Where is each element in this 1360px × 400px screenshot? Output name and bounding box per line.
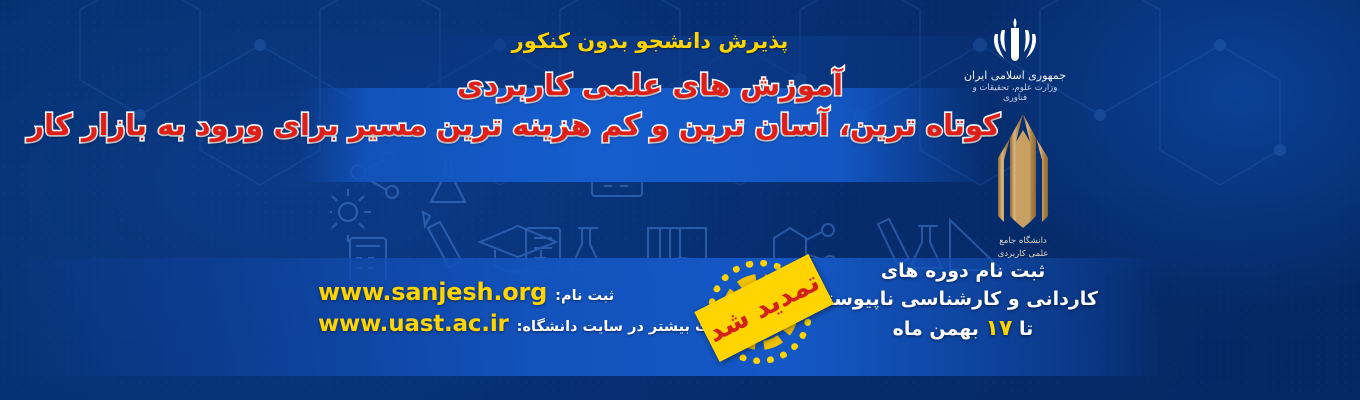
registration-block: ثبت نام دوره های کاردانی و کارشناسی ناپی… [828,258,1098,345]
site-row: اطلاعات بیشتر در سایت دانشگاه: www.uast.… [318,311,668,337]
kicker-text: پذیرش دانشجو بدون کنکور [300,28,1000,54]
iran-emblem-label-1: جمهوری اسلامی ایران [960,69,1070,82]
iran-emblem-logo: جمهوری اسلامی ایران وزارت علوم، تحقیقات … [960,14,1070,110]
headline-subtitle: کوتاه ترین، آسان ترین و کم هزینه ترین مس… [300,108,1000,143]
deadline-number: ۱۷ [986,316,1013,341]
headline-title: آموزش های علمی کاربردی [300,68,1000,103]
uast-logo: دانشگاه جامع علمی کاربردی [975,112,1071,257]
iran-emblem-icon [986,14,1044,68]
site-row: ثبت نام: www.sanjesh.org [318,278,668,306]
promo-banner: پذیرش دانشجو بدون کنکور آموزش های علمی ک… [0,0,1360,400]
headline-block: پذیرش دانشجو بدون کنکور آموزش های علمی ک… [300,28,1000,143]
uast-logo-icon [988,112,1058,230]
uast-logo-label-2: علمی کاربردی [975,249,1071,260]
register-label: ثبت نام: [555,288,614,304]
uast-logo-label-1: دانشگاه جامع [975,236,1071,247]
website-info-block: ثبت نام: www.sanjesh.org اطلاعات بیشتر د… [318,278,668,342]
registration-line-1: ثبت نام دوره های [828,258,1098,286]
extended-stamp: تمدید شد [694,252,834,370]
sanjesh-url[interactable]: www.sanjesh.org [318,278,547,306]
registration-deadline: تا ۱۷ بهمن ماه [828,313,1098,345]
deadline-prefix: تا [1019,318,1033,340]
deadline-suffix: بهمن ماه [893,318,979,340]
registration-line-2: کاردانی و کارشناسی ناپیوسته [828,286,1098,314]
uast-url[interactable]: www.uast.ac.ir [318,311,509,337]
iran-emblem-label-2: وزارت علوم، تحقیقات و فناوری [960,83,1070,103]
